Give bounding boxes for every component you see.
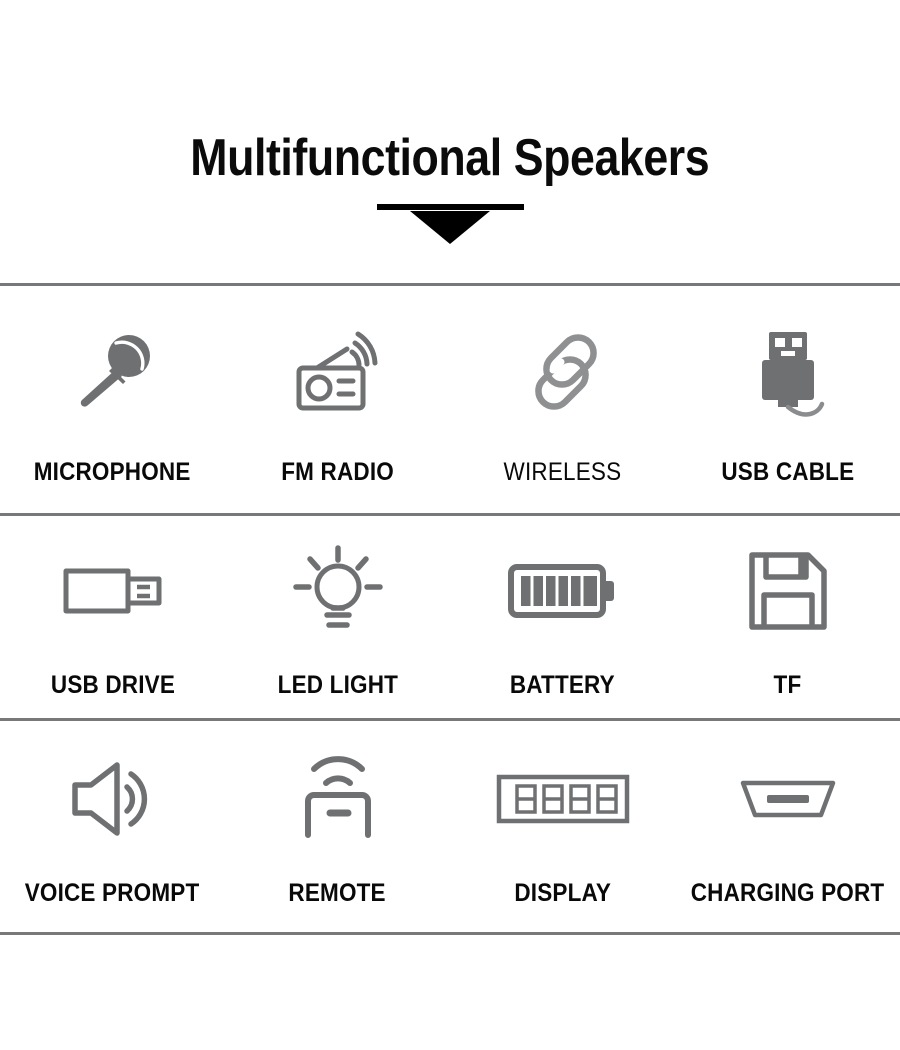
feature-cell-fm-radio[interactable]: FM RADIO bbox=[225, 286, 450, 513]
feature-cell-usb-drive[interactable]: USB DRIVE bbox=[0, 516, 225, 718]
battery-icon bbox=[507, 541, 619, 641]
feature-label: FM RADIO bbox=[281, 458, 394, 487]
charging-port-icon bbox=[735, 749, 841, 849]
product-feature-infographic: Multifunctional Speakers bbox=[0, 0, 900, 1050]
usb-drive-icon bbox=[58, 541, 168, 641]
feature-label: USB CABLE bbox=[721, 458, 854, 487]
feature-label: LED LIGHT bbox=[277, 671, 397, 700]
microphone-icon bbox=[67, 320, 159, 424]
header: Multifunctional Speakers bbox=[0, 0, 900, 283]
accent-bar bbox=[377, 204, 524, 210]
feature-label: VOICE PROMPT bbox=[25, 879, 200, 908]
feature-label: USB DRIVE bbox=[50, 671, 174, 700]
feature-cell-microphone[interactable]: MICROPHONE bbox=[0, 286, 225, 513]
feature-label: TF bbox=[774, 671, 802, 700]
feature-cell-display[interactable]: DISPLAY bbox=[450, 721, 675, 932]
down-triangle-icon bbox=[410, 211, 490, 244]
feature-cell-tf[interactable]: TF bbox=[675, 516, 900, 718]
feature-cell-charging-port[interactable]: CHARGING PORT bbox=[675, 721, 900, 932]
speaker-wave-icon bbox=[65, 749, 161, 849]
feature-cell-led-light[interactable]: LED LIGHT bbox=[225, 516, 450, 718]
feature-label: MICROPHONE bbox=[34, 458, 191, 487]
feature-grid: MICROPHONE bbox=[0, 283, 900, 935]
chain-link-icon bbox=[517, 320, 609, 424]
feature-label: REMOTE bbox=[289, 879, 386, 908]
feature-label: CHARGING PORT bbox=[691, 879, 885, 908]
usb-plug-icon bbox=[742, 320, 834, 424]
floppy-disk-icon bbox=[744, 541, 832, 641]
segment-display-icon bbox=[495, 749, 631, 849]
divider-bottom bbox=[0, 932, 900, 935]
fm-radio-icon bbox=[290, 320, 386, 424]
feature-cell-battery[interactable]: BATTERY bbox=[450, 516, 675, 718]
light-bulb-icon bbox=[288, 541, 388, 641]
feature-cell-remote[interactable]: REMOTE bbox=[225, 721, 450, 932]
feature-label: DISPLAY bbox=[514, 879, 611, 908]
page-title: Multifunctional Speakers bbox=[191, 132, 710, 184]
feature-label: BATTERY bbox=[510, 671, 615, 700]
feature-cell-usb-cable[interactable]: USB CABLE bbox=[675, 286, 900, 513]
feature-cell-wireless[interactable]: WIRELESS bbox=[450, 286, 675, 513]
feature-label: WIRELESS bbox=[504, 458, 622, 487]
feature-row: MICROPHONE bbox=[0, 286, 900, 513]
feature-cell-voice-prompt[interactable]: VOICE PROMPT bbox=[0, 721, 225, 932]
feature-row: VOICE PROMPT REMOTE bbox=[0, 721, 900, 932]
feature-row: USB DRIVE bbox=[0, 516, 900, 718]
remote-signal-icon bbox=[294, 749, 382, 849]
title-accent bbox=[377, 204, 524, 244]
